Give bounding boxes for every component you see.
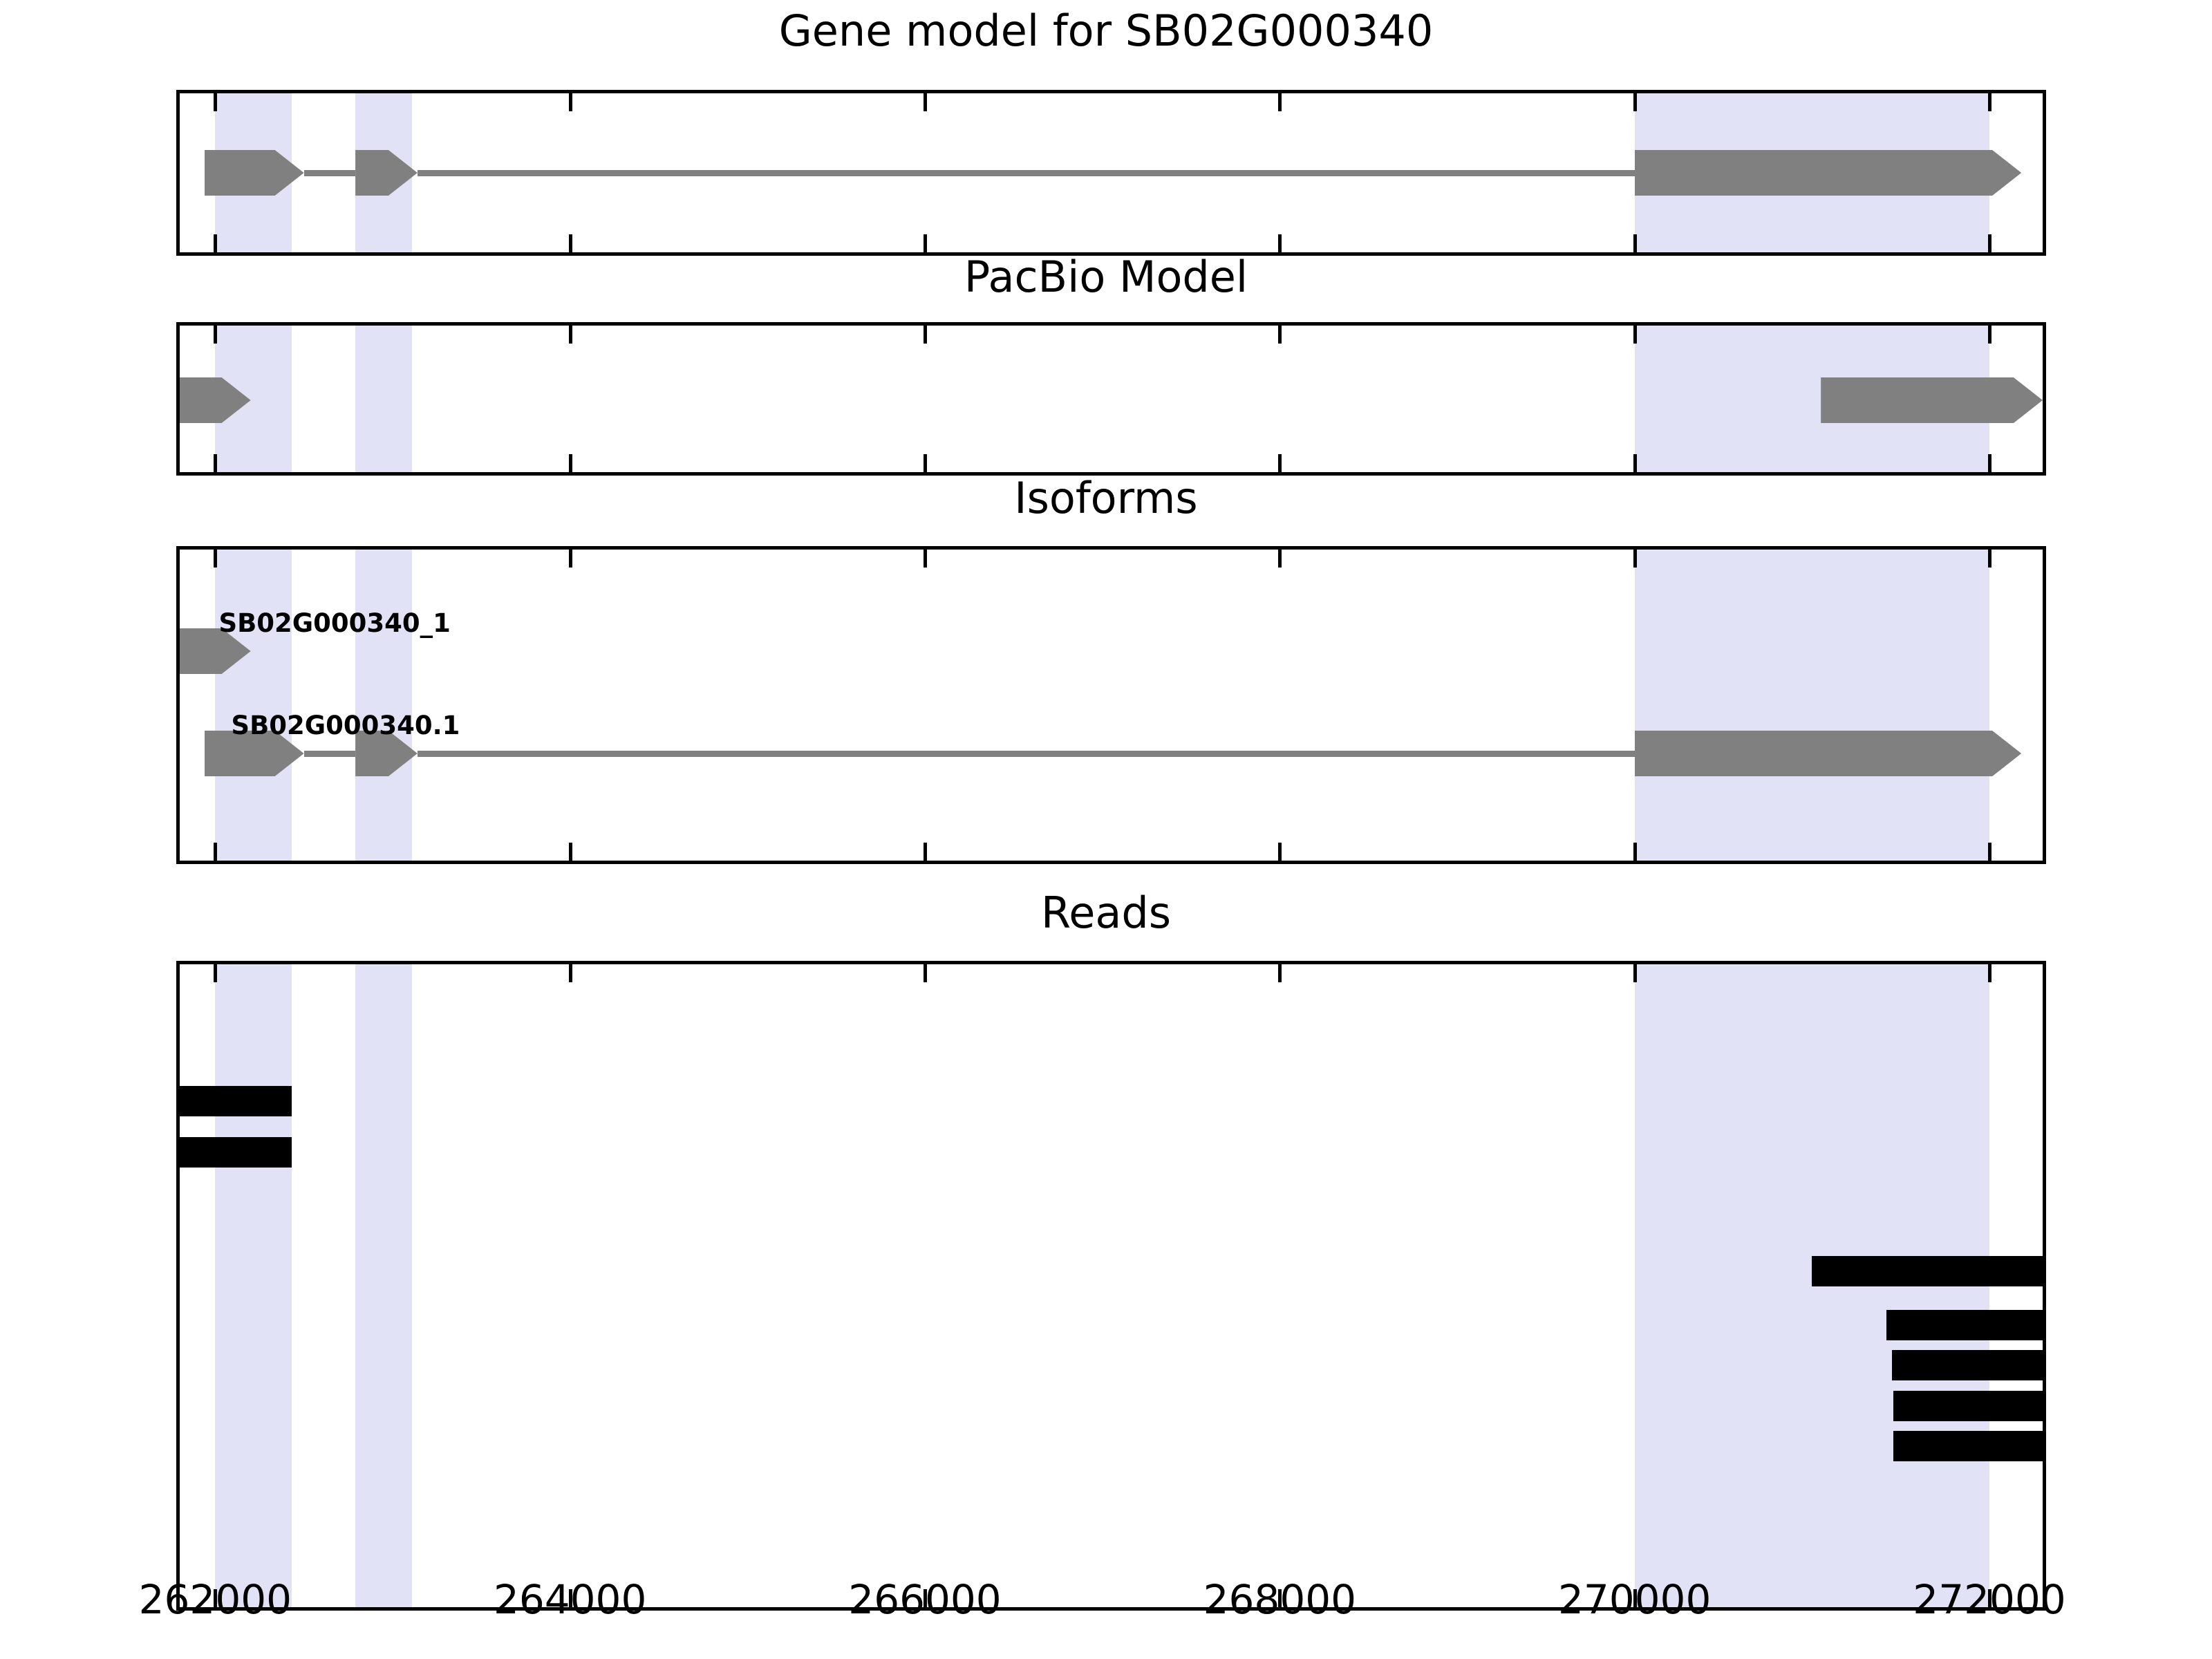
x-tick-mark	[924, 93, 927, 111]
x-tick-mark	[1988, 454, 1991, 472]
read-bar	[1886, 1310, 2043, 1340]
x-tick-mark	[1278, 326, 1282, 344]
isoform-label: SB02G000340.1	[231, 713, 460, 738]
x-tick-mark	[1633, 234, 1637, 252]
gene-model-exon	[355, 150, 418, 196]
x-tick-mark	[1278, 550, 1282, 568]
read-bar	[1812, 1256, 2043, 1286]
x-tick-mark	[1988, 550, 1991, 568]
x-tick-mark	[569, 964, 572, 982]
x-tick-mark	[924, 234, 927, 252]
x-tick-label: 268000	[1203, 1580, 1356, 1620]
intron-line	[304, 751, 355, 757]
x-tick-mark	[1633, 964, 1637, 982]
axes-isoforms: SB02G000340_1SB02G000340.1	[176, 546, 2046, 864]
x-tick-mark	[1633, 843, 1637, 861]
highlight-band-2	[355, 326, 412, 472]
highlight-band-2	[355, 964, 412, 1607]
x-tick-mark	[924, 550, 927, 568]
x-tick-mark	[1278, 234, 1282, 252]
x-tick-mark	[569, 454, 572, 472]
gene-model-exon	[205, 150, 304, 196]
x-tick-mark	[569, 843, 572, 861]
x-tick-mark	[1633, 93, 1637, 111]
x-tick-mark	[214, 964, 217, 982]
x-axis-tick-labels: 262000264000266000268000270000272000	[0, 1580, 2212, 1656]
x-tick-mark	[1988, 326, 1991, 344]
highlight-band-2	[355, 550, 412, 861]
x-tick-mark	[569, 326, 572, 344]
x-tick-mark	[1988, 93, 1991, 111]
x-tick-mark	[1633, 326, 1637, 344]
panel-title-gene-model: Gene model for SB02G000340	[0, 10, 2212, 53]
x-tick-mark	[924, 454, 927, 472]
x-tick-mark	[214, 326, 217, 344]
read-bar	[1893, 1431, 2046, 1461]
x-tick-mark	[1278, 843, 1282, 861]
read-bar	[1892, 1350, 2043, 1380]
x-tick-mark	[1278, 93, 1282, 111]
highlight-band-1	[215, 550, 291, 861]
x-tick-mark	[1278, 964, 1282, 982]
x-tick-mark	[1633, 454, 1637, 472]
read-bar	[1893, 1391, 2046, 1421]
x-tick-mark	[1278, 454, 1282, 472]
x-tick-label: 272000	[1913, 1580, 2065, 1620]
x-tick-mark	[214, 93, 217, 111]
x-tick-mark	[214, 843, 217, 861]
read-bar	[180, 1086, 292, 1116]
x-tick-mark	[569, 550, 572, 568]
axes-pacbio-model	[176, 322, 2046, 476]
intron-line	[418, 751, 1635, 757]
highlight-band-1	[215, 964, 291, 1607]
x-tick-mark	[1988, 234, 1991, 252]
intron-line	[418, 170, 1635, 176]
axes-gene-model	[176, 90, 2046, 256]
x-tick-mark	[214, 454, 217, 472]
x-tick-mark	[214, 234, 217, 252]
x-tick-mark	[924, 326, 927, 344]
x-tick-mark	[1988, 843, 1991, 861]
panel-title-reads: Reads	[0, 892, 2212, 935]
intron-line	[304, 170, 355, 176]
pacbio-model-exon	[1821, 377, 2043, 423]
pacbio-model-exon	[180, 377, 251, 423]
read-bar	[180, 1137, 292, 1168]
gene-model-exon	[1635, 150, 2022, 196]
x-tick-mark	[569, 234, 572, 252]
x-tick-mark	[924, 843, 927, 861]
x-tick-mark	[569, 93, 572, 111]
x-tick-mark	[1988, 964, 1991, 982]
panel-title-pacbio-model: PacBio Model	[0, 256, 2212, 299]
x-tick-mark	[214, 550, 217, 568]
x-tick-label: 270000	[1558, 1580, 1711, 1620]
x-tick-label: 266000	[848, 1580, 1001, 1620]
gene-model-figure: Gene model for SB02G000340 PacBio Model …	[0, 0, 2212, 1659]
x-tick-label: 264000	[494, 1580, 646, 1620]
isoform-label: SB02G000340_1	[218, 610, 450, 636]
x-tick-mark	[924, 964, 927, 982]
x-tick-label: 262000	[139, 1580, 292, 1620]
axes-reads	[176, 961, 2046, 1611]
highlight-band-3	[1635, 550, 1989, 861]
panel-title-isoforms: Isoforms	[0, 477, 2212, 520]
isoform-2-exon	[1635, 731, 2022, 776]
x-tick-mark	[1633, 550, 1637, 568]
